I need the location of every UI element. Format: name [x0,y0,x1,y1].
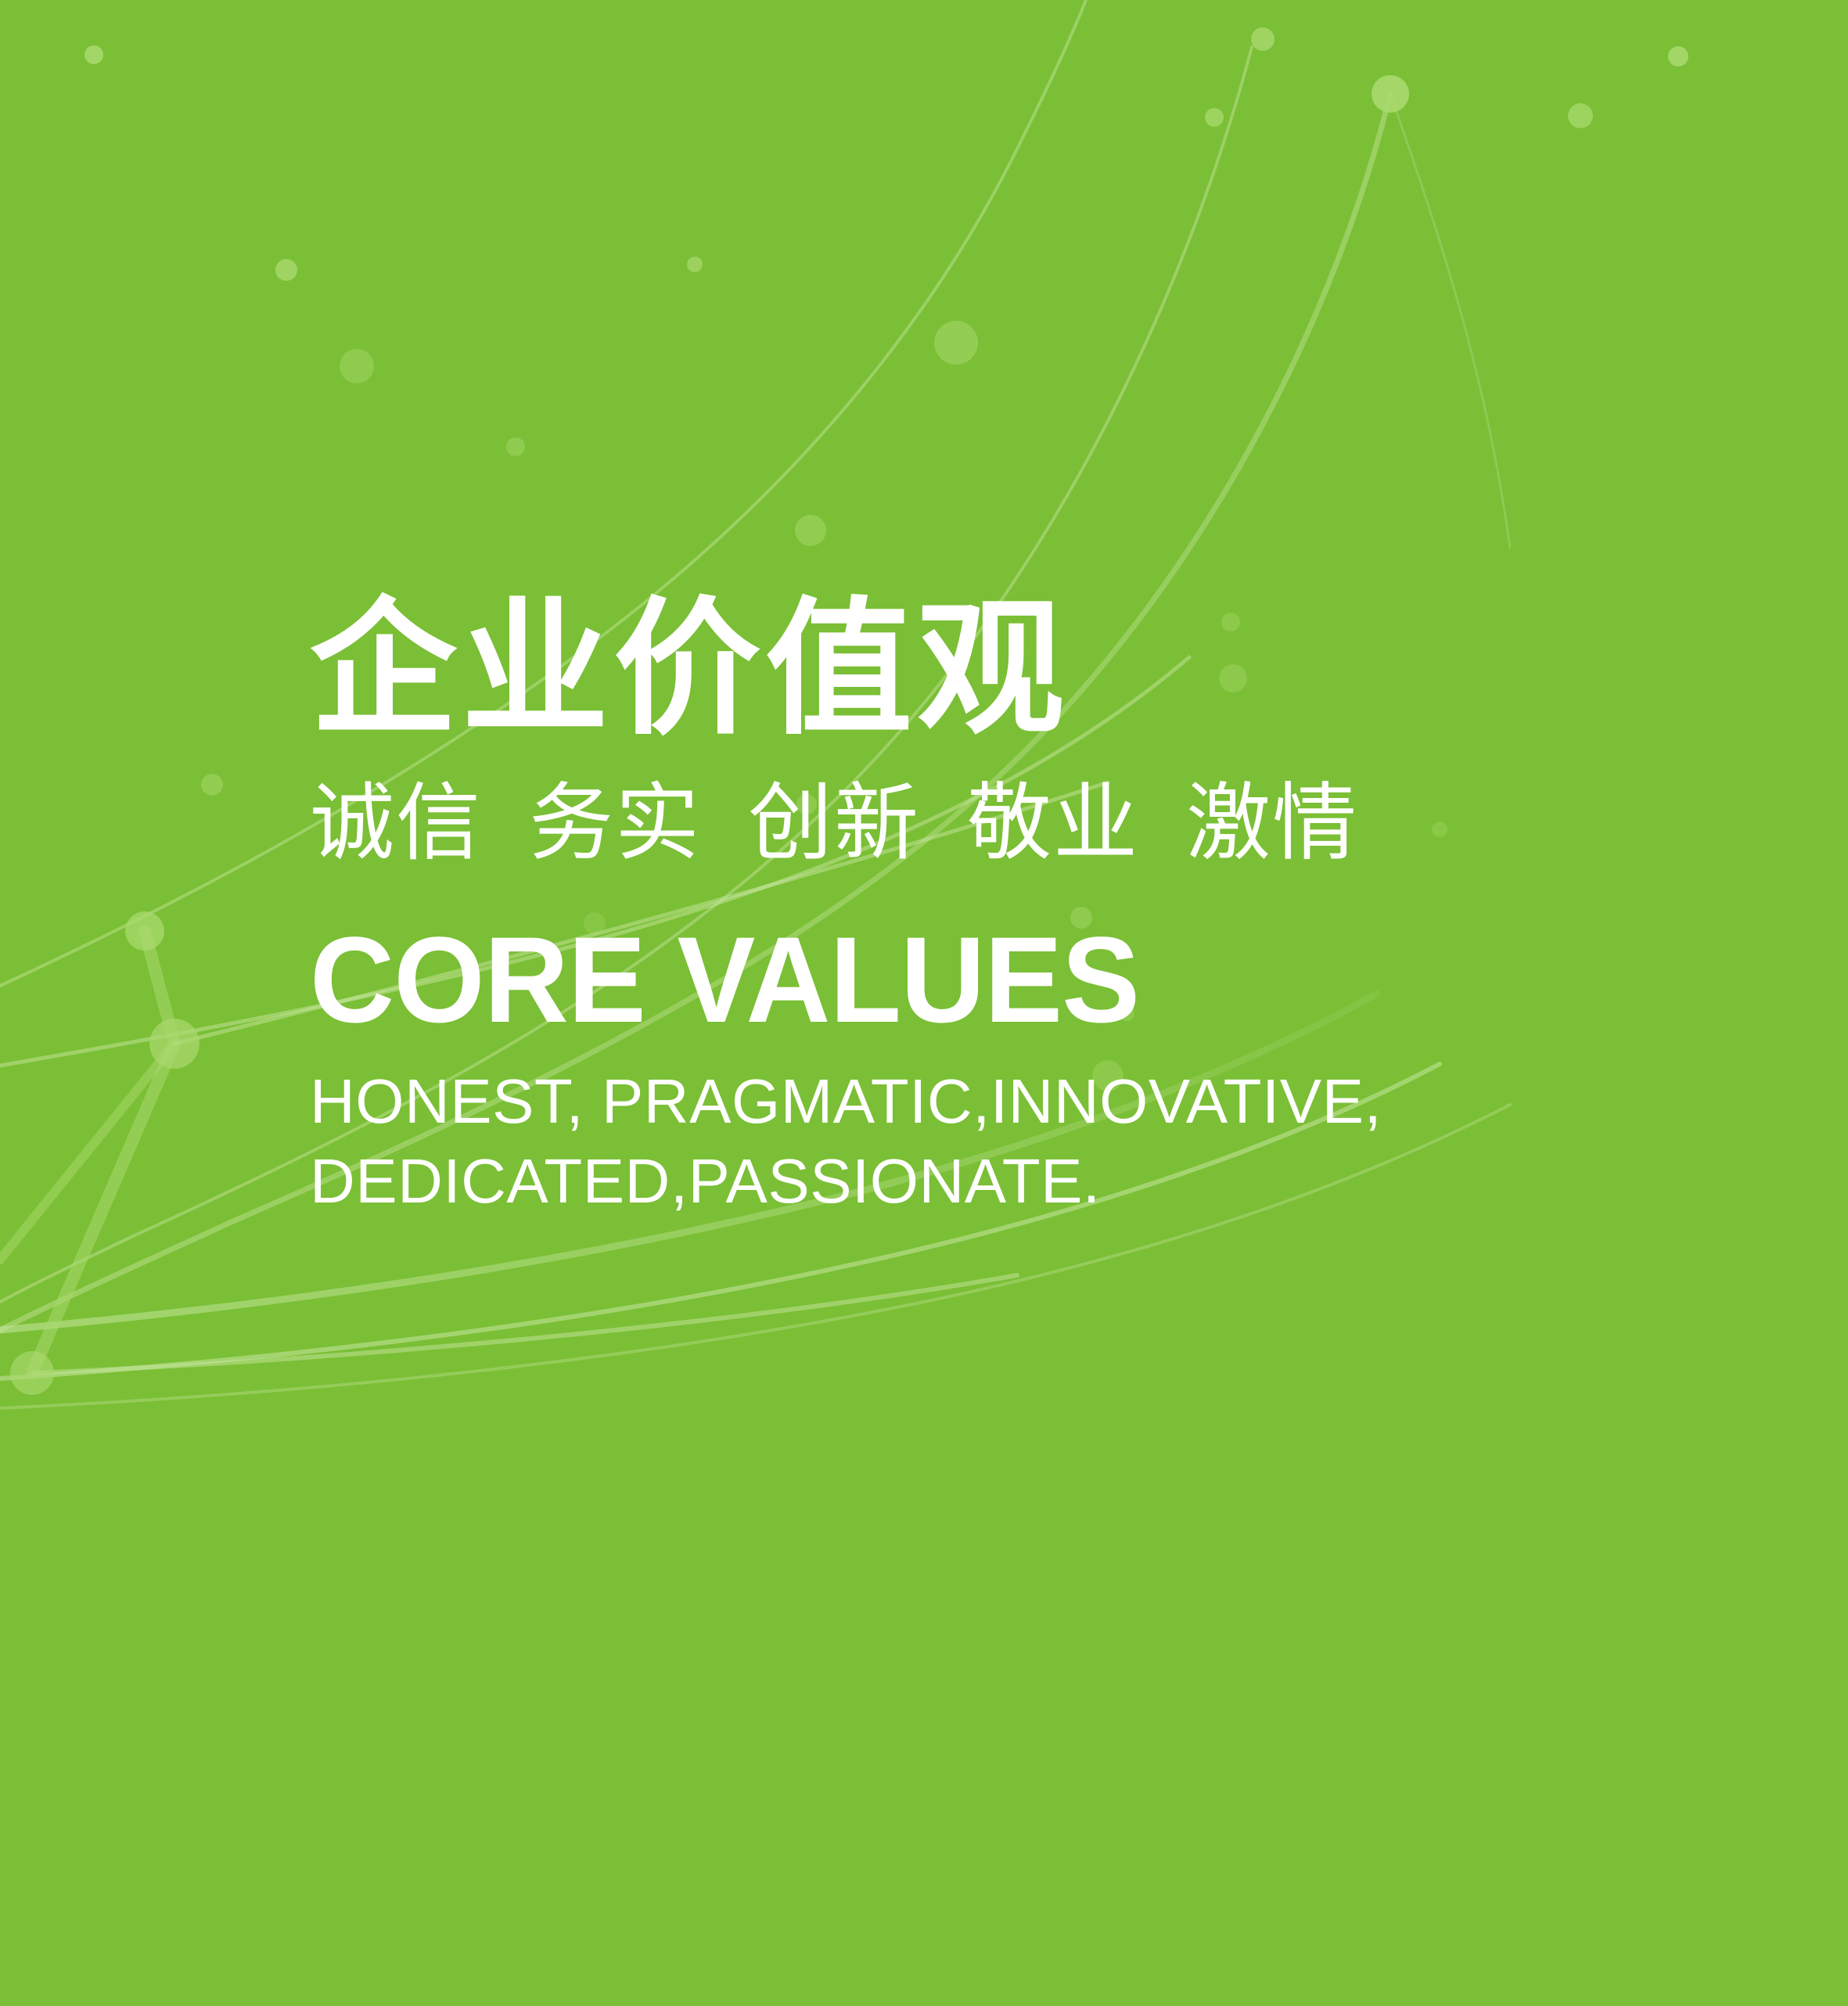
chinese-value-word-1: 诚信 [310,779,482,868]
node-dot [84,45,103,64]
node-dot [1251,27,1275,51]
node-dot [795,515,826,546]
node-dot [1205,108,1224,127]
node-dot [1668,46,1688,67]
chinese-value-word-4: 敬业 [967,779,1139,868]
node-dot [10,1351,54,1395]
chinese-title: 企业价值观 [310,595,1640,745]
headline-block: 企业价值观 诚信务实创新敬业激情 CORE VALUES HONEST, PRA… [310,595,1640,1220]
english-subtitle-line-1: HONEST, PRAGMATIC,INNOVATIVE, [310,1062,1640,1141]
english-subtitle: HONEST, PRAGMATIC,INNOVATIVE, DEDICATED,… [310,1062,1640,1220]
node-dot [149,1019,200,1069]
node-dot [275,259,297,281]
node-dot [506,437,525,456]
english-title: CORE VALUES [310,919,1587,1041]
node-dot [1372,75,1409,113]
chinese-subtitle: 诚信务实创新敬业激情 [310,779,1640,868]
chinese-value-word-3: 创新 [748,779,920,868]
node-dot [1568,103,1593,128]
node-dot [687,257,703,272]
english-subtitle-line-2: DEDICATED,PASSIONATE. [310,1141,1640,1221]
poster-canvas: 企业价值观 诚信务实创新敬业激情 CORE VALUES HONEST, PRA… [0,0,1848,2006]
node-dot [340,349,374,383]
chinese-value-word-2: 务实 [529,779,701,868]
chinese-value-word-5: 激情 [1186,779,1358,868]
node-dot [934,321,978,365]
node-dot [125,911,164,951]
node-dot [201,774,223,796]
